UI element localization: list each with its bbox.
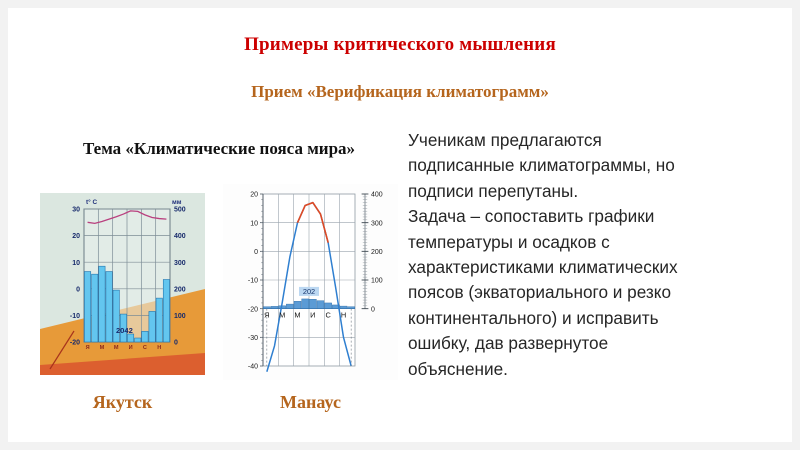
description-line: температуры и осадков с	[408, 230, 748, 255]
description-line: подписи перепутаны.	[408, 179, 748, 204]
climatogram-manaus: 20100-10-20-30-404003002001000202ЯММИСН	[223, 184, 398, 380]
page-subtitle: Прием «Верификация климатограмм»	[8, 82, 792, 102]
svg-text:300: 300	[371, 220, 383, 227]
svg-text:М: М	[100, 345, 105, 351]
caption-manaus: Манаус	[223, 392, 398, 413]
svg-text:400: 400	[371, 192, 383, 199]
manaus-chart-svg: 20100-10-20-30-404003002001000202ЯММИСН	[223, 184, 398, 380]
description-line: ошибку, дав развернутое	[408, 331, 748, 356]
caption-yakutsk: Якутск	[40, 392, 205, 413]
svg-text:С: С	[325, 311, 331, 320]
description-line: объяснение.	[408, 357, 748, 382]
svg-text:0: 0	[174, 340, 178, 347]
climatogram-yakutsk: t° Cмм3020100-10-2050040030020010002042Я…	[40, 193, 205, 375]
svg-text:0: 0	[76, 286, 80, 293]
svg-text:20: 20	[250, 192, 258, 199]
svg-text:-30: -30	[248, 335, 258, 342]
theme-heading: Тема «Климатические пояса мира»	[44, 139, 394, 159]
svg-text:500: 500	[174, 207, 186, 214]
description-line: подписанные климатограммы, но	[408, 153, 748, 178]
svg-text:М: М	[114, 345, 119, 351]
svg-text:t° C: t° C	[86, 198, 97, 206]
description-line: континентального) и исправить	[408, 306, 748, 331]
svg-text:Я: Я	[264, 311, 269, 320]
yakutsk-chart-svg: t° Cмм3020100-10-2050040030020010002042Я…	[40, 193, 205, 375]
svg-text:10: 10	[72, 260, 80, 267]
svg-text:20: 20	[72, 233, 80, 240]
svg-text:мм: мм	[172, 199, 182, 206]
description-line: Ученикам предлагаются	[408, 128, 748, 153]
svg-text:-40: -40	[248, 364, 258, 371]
svg-text:-10: -10	[70, 313, 80, 320]
svg-text:200: 200	[371, 249, 383, 256]
svg-text:-10: -10	[248, 278, 258, 285]
description-line: поясов (экваториального и резко	[408, 280, 748, 305]
svg-text:И: И	[129, 345, 133, 351]
svg-text:200: 200	[174, 286, 186, 293]
slide: Примеры критического мышления Прием «Вер…	[8, 8, 792, 442]
svg-text:30: 30	[72, 207, 80, 214]
svg-text:100: 100	[174, 313, 186, 320]
description-line: Задача – сопоставить графики	[408, 204, 748, 229]
description-text: Ученикам предлагаются подписанные климат…	[408, 128, 748, 382]
svg-text:0: 0	[371, 306, 375, 313]
svg-text:Н: Н	[157, 345, 161, 351]
svg-text:202: 202	[303, 287, 315, 296]
svg-text:100: 100	[371, 278, 383, 285]
svg-text:300: 300	[174, 260, 186, 267]
svg-text:Я: Я	[86, 345, 90, 351]
svg-text:0: 0	[254, 249, 258, 256]
svg-text:С: С	[143, 345, 147, 351]
svg-text:Н: Н	[341, 311, 346, 320]
svg-text:М: М	[279, 311, 285, 320]
svg-text:10: 10	[250, 220, 258, 227]
svg-text:М: М	[294, 311, 300, 320]
svg-text:-20: -20	[70, 340, 80, 347]
svg-text:-20: -20	[248, 306, 258, 313]
description-line: характеристиками климатических	[408, 255, 748, 280]
svg-text:400: 400	[174, 233, 186, 240]
svg-text:2042: 2042	[116, 326, 133, 335]
svg-text:И: И	[310, 311, 315, 320]
page-title: Примеры критического мышления	[8, 34, 792, 56]
